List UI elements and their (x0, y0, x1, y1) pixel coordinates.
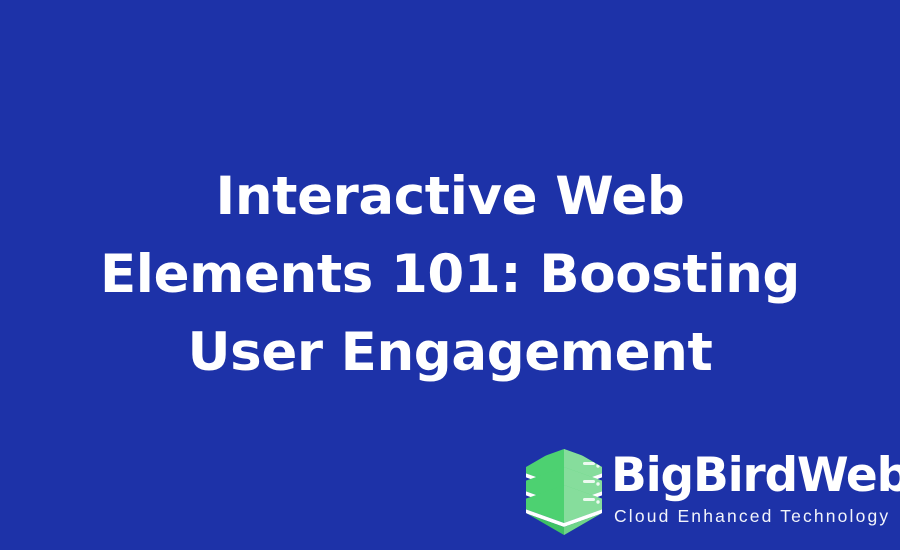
slide-canvas: Interactive Web Elements 101: Boosting U… (0, 0, 900, 550)
brand-wordmark: BigBirdWeb (611, 452, 900, 499)
title-line-1: Interactive Web (60, 158, 840, 236)
title-line-3: User Engagement (60, 314, 840, 392)
stacked-server-hexagon-icon (525, 444, 603, 536)
title-line-2: Elements 101: Boosting (60, 236, 840, 314)
brand-tagline: Cloud Enhanced Technology (614, 506, 890, 526)
brand-logo-text: BigBirdWeb Cloud Enhanced Technology (611, 444, 900, 526)
brand-logo: BigBirdWeb Cloud Enhanced Technology (525, 444, 900, 540)
page-title: Interactive Web Elements 101: Boosting U… (0, 158, 900, 392)
